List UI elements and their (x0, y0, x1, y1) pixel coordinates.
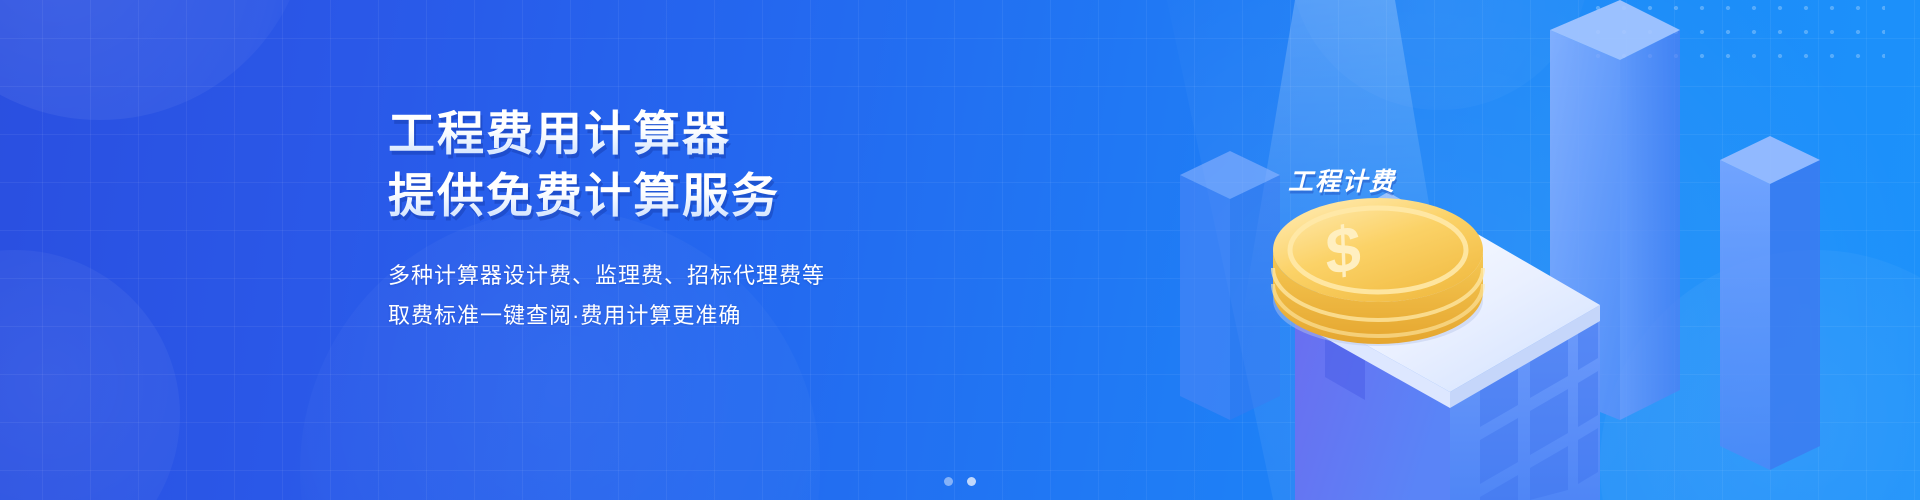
bar-left-right-face (1230, 175, 1280, 420)
promo-banner: 工程费用计算器 提供免费计算服务 多种计算器设计费、监理费、招标代理费等 取费标… (0, 0, 1920, 500)
bar-back-right-face (1620, 30, 1680, 420)
headline-line-1: 工程费用计算器 (388, 104, 1008, 164)
description-line-2: 取费标准一键查阅·费用计算更准确 (388, 296, 1008, 336)
headline-line-2: 提供免费计算服务 (388, 166, 1008, 226)
carousel-dot-1[interactable] (944, 477, 953, 486)
description-line-1: 多种计算器设计费、监理费、招标代理费等 (388, 256, 1008, 296)
bar-right-right-face (1770, 160, 1820, 470)
coin-face (1273, 198, 1483, 302)
carousel-dot-2[interactable] (967, 477, 976, 486)
banner-copy: 工程费用计算器 提供免费计算服务 多种计算器设计费、监理费、招标代理费等 取费标… (388, 104, 1008, 336)
bar-left-left-face (1180, 175, 1230, 420)
bar-right-left-face (1720, 160, 1770, 470)
coin-dollar-symbol: $ (1324, 211, 1362, 289)
illustration-label: 工程计费 (1288, 162, 1396, 198)
carousel-dots[interactable] (0, 477, 1920, 486)
illustration-coin-building: $ 工程计费 (1120, 0, 1920, 500)
